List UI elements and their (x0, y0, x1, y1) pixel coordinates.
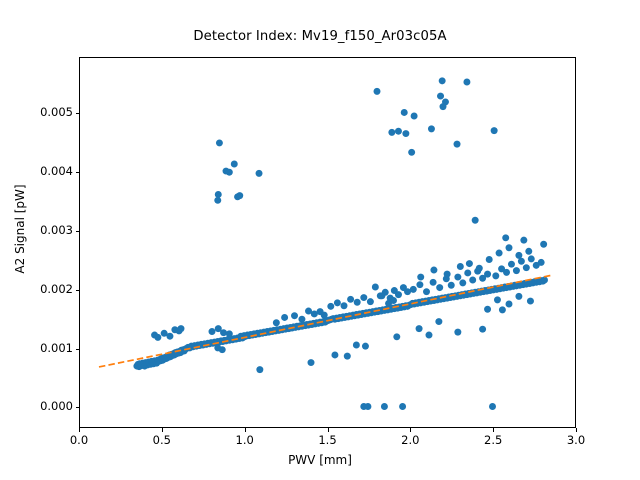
y-tick-label: 0.004 (40, 164, 73, 178)
y-axis-label: A2 Signal [pW] (13, 149, 27, 309)
x-tick-label: 0.5 (153, 433, 171, 447)
y-tick-mark (76, 407, 80, 408)
x-tick-mark (328, 428, 329, 432)
x-tick-label: 0.0 (70, 433, 88, 447)
y-tick-label: 0.002 (40, 282, 73, 296)
y-tick-mark (76, 172, 80, 173)
y-tick-mark (76, 231, 80, 232)
y-tick-mark (76, 113, 80, 114)
y-tick-mark (76, 349, 80, 350)
y-axis-tick-labels: 0.0000.0010.0020.0030.0040.005 (0, 0, 73, 480)
x-tick-label: 1.0 (236, 433, 254, 447)
matplotlib-figure: Detector Index: Mv19_f150_Ar03c05A 0.000… (0, 0, 640, 480)
x-tick-mark (162, 428, 163, 432)
chart-title: Detector Index: Mv19_f150_Ar03c05A (0, 29, 640, 44)
x-tick-mark (493, 428, 494, 432)
x-tick-label: 2.0 (401, 433, 419, 447)
y-tick-mark (76, 290, 80, 291)
y-tick-label: 0.005 (40, 105, 73, 119)
trendline (99, 275, 553, 367)
x-tick-mark (79, 428, 80, 432)
x-tick-label: 3.0 (567, 433, 585, 447)
y-tick-label: 0.000 (40, 399, 73, 413)
x-axis-label: PWV [mm] (0, 453, 640, 467)
plot-area (79, 57, 576, 428)
x-tick-label: 1.5 (318, 433, 336, 447)
trendline-layer (80, 58, 575, 427)
y-tick-label: 0.001 (40, 341, 73, 355)
x-tick-mark (245, 428, 246, 432)
x-tick-mark (576, 428, 577, 432)
x-tick-mark (410, 428, 411, 432)
x-tick-label: 2.5 (484, 433, 502, 447)
x-axis-tick-labels: 0.00.51.01.52.02.53.0 (0, 433, 640, 453)
y-tick-label: 0.003 (40, 223, 73, 237)
